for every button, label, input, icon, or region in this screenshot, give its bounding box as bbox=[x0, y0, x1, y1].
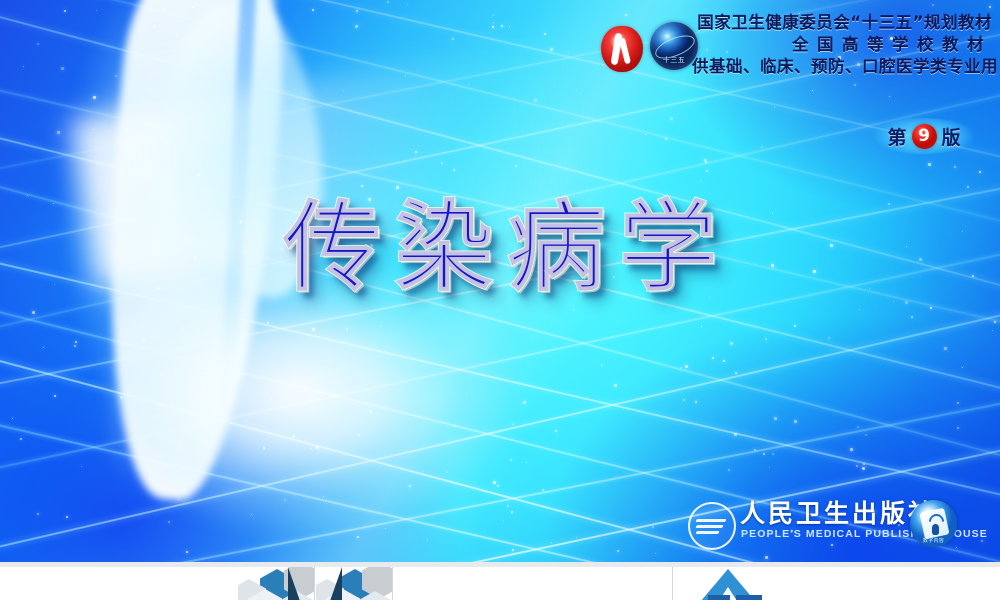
presentation-slide[interactable]: 十三五 国家卫生健康委员会“十三五”规划教材 全国高等学校教材 供基础、临床、预… bbox=[0, 0, 1000, 562]
edition-badge: 第 9 版 bbox=[872, 118, 976, 154]
header-line-1: 国家卫生健康委员会“十三五”规划教材 bbox=[692, 12, 992, 34]
publisher-block: 人民卫生出版社 PEOPLE'S MEDICAL PUBLISHING HOUS… bbox=[688, 498, 988, 552]
edition-suffix: 版 bbox=[942, 123, 961, 150]
filmstrip-separator-3 bbox=[672, 567, 673, 600]
digital-content-badge-label: 数字内容 bbox=[910, 537, 957, 544]
header-text-block: 国家卫生健康委员会“十三五”规划教材 全国高等学校教材 供基础、临床、预防、口腔… bbox=[692, 12, 992, 78]
filmstrip-separator-1 bbox=[314, 567, 315, 600]
page-title: 传染病学 bbox=[0, 196, 1000, 300]
edition-number: 9 bbox=[912, 124, 937, 149]
globe-logo-caption: 十三五 bbox=[650, 55, 698, 65]
filmstrip-separator-2 bbox=[392, 567, 393, 600]
publisher-name-chinese: 人民卫生出版社 bbox=[740, 500, 936, 528]
publisher-emblem-icon bbox=[688, 502, 736, 550]
header-line-2: 全国高等学校教材 bbox=[692, 34, 992, 56]
slide-thumbnail-hexagon-a[interactable] bbox=[238, 567, 314, 600]
filmstrip-divider bbox=[0, 562, 1000, 567]
thirteenth-five-year-plan-globe-logo: 十三五 bbox=[650, 22, 698, 70]
slide-thumbnail-triangle-logo[interactable] bbox=[674, 567, 794, 600]
slide-filmstrip bbox=[0, 562, 1000, 600]
slide-thumbnail-hexagon-b[interactable] bbox=[316, 567, 392, 600]
header-line-3: 供基础、临床、预防、口腔医学类专业用 bbox=[692, 56, 992, 78]
national-health-commission-seal-logo bbox=[601, 26, 643, 72]
digital-content-badge-icon: 数字内容 bbox=[910, 500, 957, 547]
edition-prefix: 第 bbox=[887, 123, 906, 150]
